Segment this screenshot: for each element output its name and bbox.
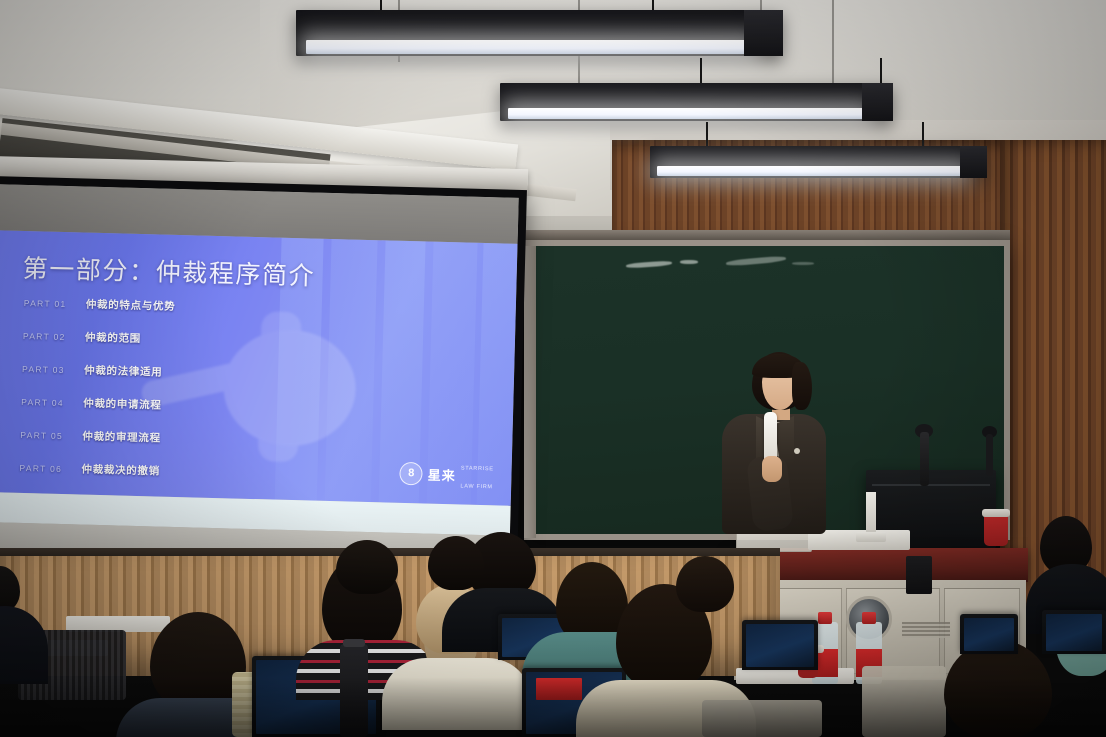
laptop-5 [1042, 610, 1106, 654]
pendant-light-3 [650, 146, 986, 178]
audience-head [336, 540, 398, 594]
slide-topic: 仲裁的申请流程 [83, 396, 162, 413]
starrise-law-firm-logo: 8 星来 STARRISE LAW FIRM [399, 455, 494, 493]
podium-white-rod [866, 492, 876, 536]
audience-head [944, 640, 1052, 737]
slide-part-number: PART 03 [22, 364, 84, 376]
pendant-light-3-rod [706, 122, 708, 148]
red-cup [984, 514, 1008, 546]
speaker-presenter [708, 352, 840, 552]
slide-topic: 仲裁的审理流程 [82, 429, 161, 446]
pendant-light-3-end-cap [960, 146, 987, 178]
pendant-light-1 [296, 10, 782, 56]
projection-screen: 第一部分：仲裁程序简介 PART 01 仲裁的特点与优势 PART 02 仲裁的… [0, 176, 527, 582]
microphone-stand-secondary [986, 434, 993, 476]
laptop-screen [1046, 614, 1102, 651]
bottle-cap [818, 612, 833, 624]
logo-english-name: STARRISE LAW FIRM [460, 456, 494, 493]
pendant-light-2-tube [508, 108, 869, 119]
chair-back-light [862, 666, 946, 737]
logo-chinese-name: 星来 [428, 464, 457, 484]
laptop-4 [742, 620, 818, 670]
presentation-slide: 第一部分：仲裁程序简介 PART 01 仲裁的特点与优势 PART 02 仲裁的… [0, 230, 518, 506]
projection-screen-surface: 第一部分：仲裁程序简介 PART 01 仲裁的特点与优势 PART 02 仲裁的… [0, 184, 519, 574]
pendant-light-2-end-cap [862, 83, 893, 121]
black-tumbler [340, 644, 368, 737]
slide-title: 第一部分：仲裁程序简介 [22, 249, 315, 293]
audience-head [676, 556, 734, 612]
lecture-hall-photo: 第一部分：仲裁程序简介 PART 01 仲裁的特点与优势 PART 02 仲裁的… [0, 0, 1106, 737]
slide-topic: 仲裁裁决的撤销 [81, 462, 160, 479]
pendant-light-3-tube [657, 166, 966, 176]
microphone-stand [920, 432, 929, 486]
logo-mark-icon: 8 [399, 461, 423, 485]
chalk-mark [626, 260, 672, 268]
slide-topic: 仲裁的范围 [85, 330, 141, 346]
chair-back-light [702, 700, 822, 737]
audience-shoulders [382, 658, 532, 730]
speaker-hand [762, 456, 782, 482]
logo-english-line2: LAW FIRM [460, 483, 492, 490]
bottle-cap [862, 612, 877, 624]
laptop-screen [746, 624, 814, 667]
podium-rod-base [856, 532, 886, 542]
podium-vent [902, 622, 950, 638]
monitor-bezel-line [872, 484, 990, 486]
pendant-light-1-tube [306, 40, 753, 54]
pendant-light-3-rod [922, 122, 924, 148]
laptop-screen [964, 618, 1014, 651]
slide-topic: 仲裁的特点与优势 [86, 297, 176, 314]
slide-part-number: PART 04 [21, 397, 83, 409]
slide-part-number: PART 06 [19, 463, 81, 475]
speaker-lapel-pin [794, 448, 800, 454]
chalkboard-left-frame [524, 246, 536, 538]
audience-head [428, 536, 484, 590]
pendant-light-2 [500, 83, 892, 121]
podium-black-device [906, 556, 932, 594]
speaker-hair-side [792, 362, 812, 410]
tumbler-cap [343, 639, 365, 647]
slide-part-number: PART 05 [20, 430, 82, 442]
slide-agenda-list: PART 01 仲裁的特点与优势 PART 02 仲裁的范围 PART 03 仲… [19, 295, 444, 504]
pendant-light-1-end-cap [744, 10, 783, 56]
slide-part-number: PART 01 [24, 298, 86, 310]
chalk-mark [726, 255, 786, 266]
chalk-mark [792, 262, 814, 265]
logo-english-line1: STARRISE [461, 465, 494, 472]
slide-topic: 仲裁的法律适用 [84, 363, 163, 380]
laptop-6 [960, 614, 1018, 654]
laptop-red-banner [536, 678, 582, 700]
chalk-mark [680, 260, 698, 264]
slide-part-number: PART 02 [23, 331, 85, 343]
red-cup-lid [982, 509, 1010, 517]
